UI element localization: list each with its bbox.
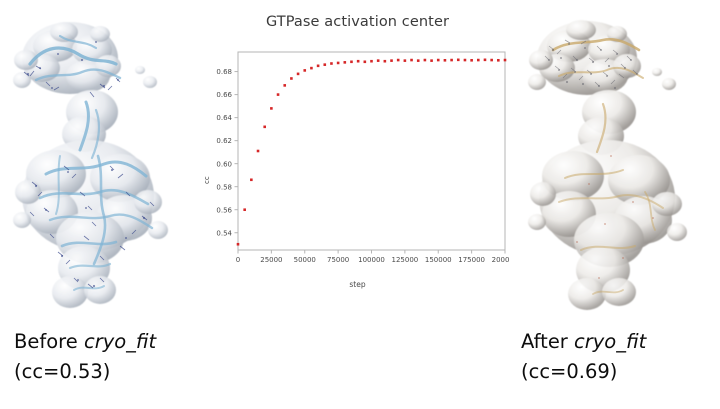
caption-after-line1: After cryo_fit (521, 327, 646, 357)
x-axis-ticks: 0250005000075000100000125000150000175000… (236, 250, 510, 264)
cryo-em-density-after-svg (515, 6, 720, 326)
data-point (243, 208, 246, 211)
y-tick-label: 0.66 (216, 91, 232, 99)
data-point (464, 59, 467, 62)
data-point (350, 60, 353, 63)
y-tick-label: 0.64 (216, 114, 232, 122)
axes (238, 52, 505, 250)
cryo-em-density-before (0, 6, 205, 326)
data-point (417, 59, 420, 62)
x-tick-label: 125000 (392, 256, 419, 264)
data-point (290, 77, 293, 80)
caption-after-italic: cryo_fit (574, 330, 646, 353)
data-point (297, 73, 300, 76)
x-axis-label: step (205, 280, 510, 289)
data-point (283, 84, 286, 87)
data-point (344, 61, 347, 64)
caption-before-prefix: Before (14, 330, 84, 353)
data-point (484, 59, 487, 62)
data-point (303, 69, 306, 72)
plot-frame (238, 52, 505, 250)
y-axis-label: cc (203, 176, 211, 184)
chart-title: GTPase activation center (205, 14, 510, 30)
caption-before: Before cryo_fit (cc=0.53) (14, 327, 156, 387)
data-point (263, 126, 266, 129)
data-point (444, 59, 447, 62)
data-point (257, 150, 260, 153)
data-point (277, 93, 280, 96)
data-point (450, 59, 453, 62)
caption-before-cc: (cc=0.53) (14, 357, 156, 387)
data-point (504, 59, 507, 62)
y-tick-label: 0.58 (216, 183, 232, 191)
caption-before-line1: Before cryo_fit (14, 327, 156, 357)
caption-after-prefix: After (521, 330, 574, 353)
data-point (337, 62, 340, 65)
data-point (237, 243, 240, 246)
data-point (437, 59, 440, 62)
data-point (364, 60, 367, 63)
data-point (323, 63, 326, 66)
x-tick-label: 50000 (294, 256, 316, 264)
x-tick-label: 100000 (358, 256, 385, 264)
data-point (490, 59, 493, 62)
data-point (477, 59, 480, 62)
data-point (250, 178, 253, 181)
data-point (497, 59, 500, 62)
x-tick-label: 0 (236, 256, 240, 264)
data-point (404, 59, 407, 62)
scatter-plot-svg: 0.540.560.580.600.620.640.660.68 0250005… (205, 44, 510, 280)
data-point (317, 65, 320, 68)
density-blobs (528, 20, 687, 310)
y-tick-label: 0.68 (216, 68, 232, 76)
data-point (357, 60, 360, 63)
x-tick-label: 200000 (492, 256, 510, 264)
data-point (330, 62, 333, 65)
data-point (470, 59, 473, 62)
data-point (457, 59, 460, 62)
x-tick-label: 75000 (327, 256, 349, 264)
cryo-em-density-after (515, 6, 720, 326)
plot-area: cc step 0.540.560.580.600.620.640.660.68… (205, 44, 510, 304)
caption-after-cc: (cc=0.69) (521, 357, 646, 387)
cryo-em-density-before-svg (0, 6, 205, 326)
y-tick-label: 0.56 (216, 206, 232, 214)
data-point (410, 59, 413, 62)
y-tick-label: 0.62 (216, 137, 232, 145)
data-point (424, 59, 427, 62)
data-point (397, 59, 400, 62)
caption-after: After cryo_fit (cc=0.69) (521, 327, 646, 387)
data-point (270, 107, 273, 110)
y-axis-ticks: 0.540.560.580.600.620.640.660.68 (216, 68, 238, 237)
data-point (377, 59, 380, 62)
x-tick-label: 175000 (458, 256, 485, 264)
data-point (390, 59, 393, 62)
x-tick-label: 25000 (260, 256, 282, 264)
y-tick-label: 0.54 (216, 229, 232, 237)
y-tick-label: 0.60 (216, 160, 232, 168)
data-point (384, 60, 387, 63)
caption-before-italic: cryo_fit (84, 330, 156, 353)
data-point (430, 59, 433, 62)
data-point (370, 60, 373, 63)
chart-panel: GTPase activation center cc step 0.540.5… (205, 14, 510, 304)
data-point (310, 67, 313, 70)
x-tick-label: 150000 (425, 256, 452, 264)
